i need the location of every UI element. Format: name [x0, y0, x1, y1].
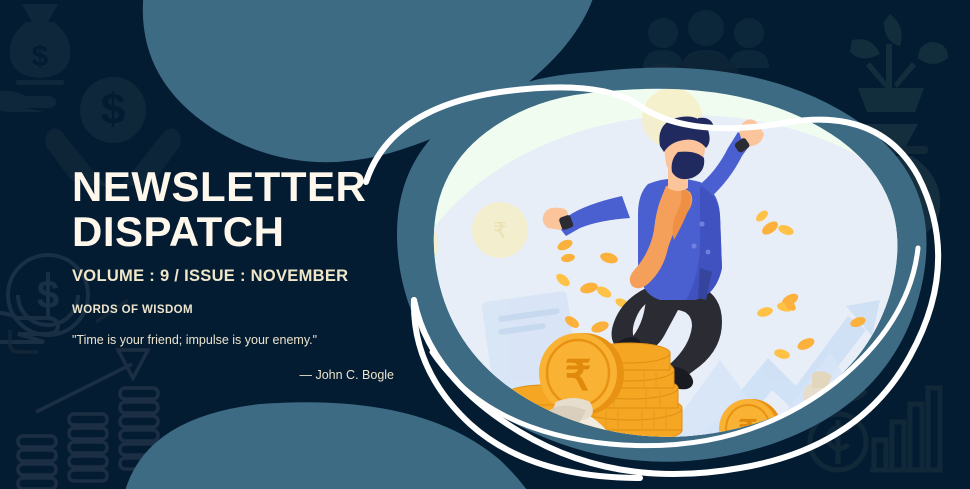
jacket-dot-3 [706, 250, 711, 255]
svg-text:₹: ₹ [493, 218, 507, 243]
page-title-line-1: NEWSLETTER [72, 165, 402, 210]
jacket-dot-2 [691, 243, 696, 248]
jacket-dot-1 [699, 221, 704, 226]
headline-text-block: NEWSLETTER DISPATCH VOLUME : 9 / ISSUE :… [72, 165, 402, 382]
words-of-wisdom-label: WORDS OF WISDOM [72, 304, 402, 316]
volume-issue-label: VOLUME : 9 / ISSUE : NOVEMBER [72, 267, 402, 286]
page-title-line-2: DISPATCH [72, 210, 402, 255]
quote-author: — John C. Bogle [72, 368, 402, 382]
newsletter-banner: $ $ $ [0, 0, 970, 489]
rupee-glyph: ₹ [565, 352, 592, 399]
rupee-glyph-watermark: ₹ [493, 218, 507, 243]
quote-text: "Time is your friend; impulse is your en… [72, 332, 402, 348]
